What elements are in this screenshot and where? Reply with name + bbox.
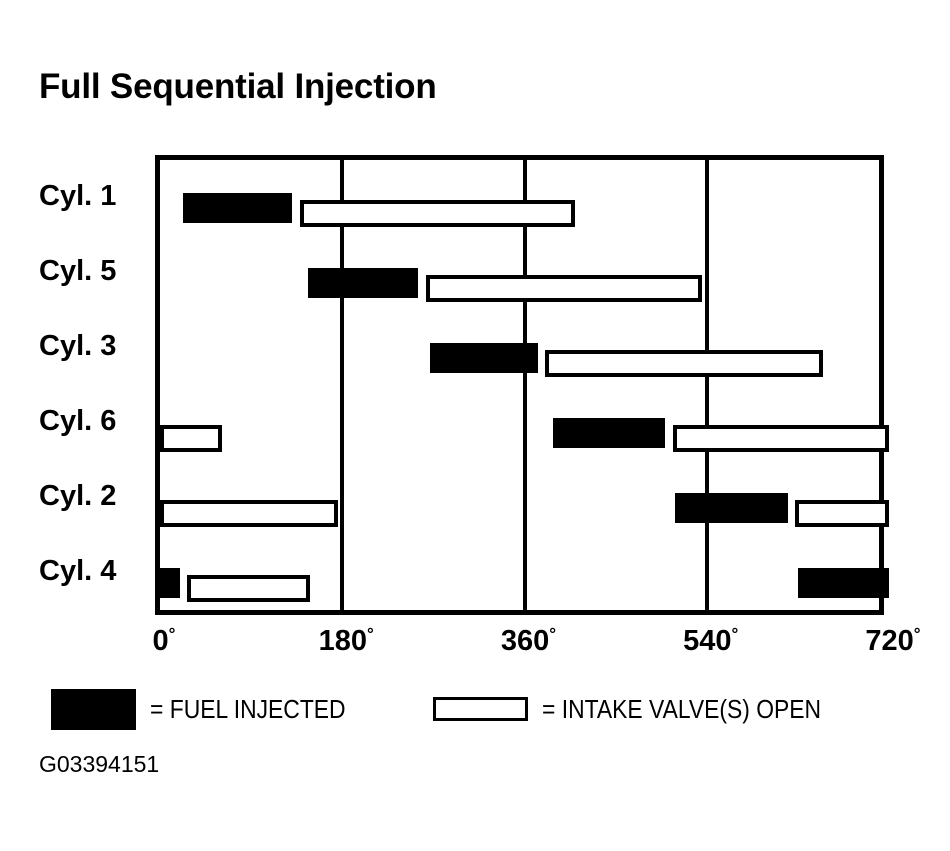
x-tick-value: 180 [319, 625, 367, 657]
fuel-injected-bar [798, 568, 889, 598]
chart-legend: = FUEL INJECTED= INTAKE VALVE(S) OPEN [0, 686, 950, 736]
row-label-cyl-3: Cyl. 3 [39, 332, 149, 361]
row-label-cyl-4: Cyl. 4 [39, 557, 149, 586]
figure-id-label: G03394151 [39, 753, 159, 776]
degree-symbol-icon: ° [169, 624, 176, 643]
x-tick-value: 720 [865, 625, 913, 657]
row-label-cyl-5: Cyl. 5 [39, 257, 149, 286]
chart-plot-inner [160, 160, 879, 610]
legend-label: = FUEL INJECTED [150, 696, 346, 722]
intake-valve-open-bar [795, 500, 889, 527]
timing-diagram-figure: Full Sequential Injection 0°180°360°540°… [0, 0, 950, 851]
fuel-injected-bar [160, 568, 180, 598]
x-tick-540: 540° [683, 627, 738, 656]
intake-valve-open-bar [160, 500, 338, 527]
row-label-cyl-6: Cyl. 6 [39, 407, 149, 436]
degree-symbol-icon: ° [732, 624, 739, 643]
chart-row-cyl-3 [160, 327, 879, 402]
x-tick-360: 360° [501, 627, 556, 656]
degree-symbol-icon: ° [914, 624, 921, 643]
intake-valve-open-bar [426, 275, 701, 302]
row-label-cyl-1: Cyl. 1 [39, 182, 149, 211]
x-tick-720: 720° [865, 627, 920, 656]
page-title: Full Sequential Injection [39, 69, 437, 104]
legend-entry-fuel-injected: = FUEL INJECTED [51, 686, 372, 732]
x-tick-value: 360 [501, 625, 549, 657]
x-tick-value: 540 [683, 625, 731, 657]
degree-symbol-icon: ° [367, 624, 374, 643]
fuel-injected-bar [675, 493, 787, 523]
intake-valve-open-bar [300, 200, 575, 227]
chart-row-cyl-1 [160, 177, 879, 252]
row-label-cyl-2: Cyl. 2 [39, 482, 149, 511]
x-tick-value: 0 [153, 625, 169, 657]
chart-row-cyl-4 [160, 552, 879, 627]
intake-valve-open-bar [673, 425, 889, 452]
x-tick-180: 180° [319, 627, 374, 656]
chart-row-cyl-2 [160, 477, 879, 552]
fuel-injected-bar [430, 343, 537, 373]
legend-label: = INTAKE VALVE(S) OPEN [542, 696, 821, 722]
chart-row-cyl-5 [160, 252, 879, 327]
intake-valve-open-bar [187, 575, 310, 602]
fuel-injected-bar [553, 418, 665, 448]
legend-swatch-intake-icon [433, 697, 528, 721]
legend-entry-intake-valve-open: = INTAKE VALVE(S) OPEN [433, 686, 859, 732]
fuel-injected-bar [183, 193, 291, 223]
chart-row-cyl-6 [160, 402, 879, 477]
chart-plot-area [155, 155, 884, 615]
degree-symbol-icon: ° [549, 624, 556, 643]
legend-swatch-fuel-icon [51, 689, 136, 730]
fuel-injected-bar [308, 268, 418, 298]
intake-valve-open-bar [160, 425, 222, 452]
intake-valve-open-bar [545, 350, 823, 377]
x-tick-0: 0° [153, 627, 176, 656]
